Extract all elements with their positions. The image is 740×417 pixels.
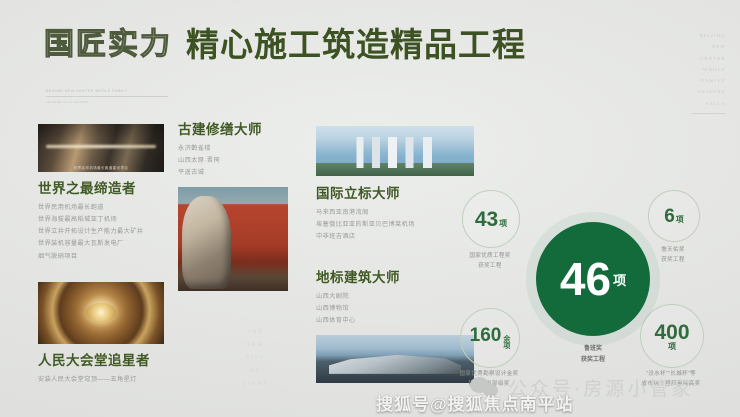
photo-airport-caption: 世界民用机场最长跑道建设项目 <box>38 165 164 170</box>
right-en-5: LEISURE <box>692 86 726 97</box>
list-item: 世界装机容量最大瓦斯发电厂 <box>38 238 166 250</box>
right-en-3: WHOLE <box>692 64 726 75</box>
page-title-outline: 国匠实力 <box>44 30 172 60</box>
right-en-6: VILLA <box>692 98 726 109</box>
list-item: 平遥古城 <box>178 167 304 179</box>
page-header: 国匠实力 精心施工筑造精品工程 <box>44 28 526 61</box>
award-unit: 余 项 <box>503 336 510 351</box>
block-heading-world-record: 世界之最缔造者 <box>38 181 166 197</box>
award-caption-national-quality: 国家优质工程奖 获奖工程 <box>430 252 550 272</box>
block-heritage-restoration: 古建修缮大师 永济鹳雀楼 山西太原·晋祠 平遥古城 <box>178 122 304 291</box>
wm-vert-3: OF <box>243 365 268 378</box>
list-item: 世界立井开拓设计生产能力最大矿井 <box>38 226 166 238</box>
wm-vert-0: THE <box>243 326 268 339</box>
award-unit-bottom: 项 <box>503 343 510 350</box>
award-unit: 项 <box>676 216 684 224</box>
award-number: 400 <box>654 322 689 343</box>
award-caption-luban: 鲁班奖 获奖工程 <box>536 344 650 366</box>
photo-golden-dome <box>38 282 164 344</box>
award-number: 46 <box>560 256 611 302</box>
right-en-2: CENTER <box>692 53 726 64</box>
award-caption-line1: 国家优质工程奖 <box>430 252 550 262</box>
award-unit: 项 <box>668 343 676 351</box>
list-item: 烟气脱硝项目 <box>38 251 166 263</box>
list-item: 世界海拔最高稻城亚丁机场 <box>38 214 166 226</box>
block-great-hall-star: 人民大会堂追星者 安装人民大会堂穹顶——五角星灯 <box>38 282 166 386</box>
list-item: 安装人民大会堂穹顶——五角星灯 <box>38 374 166 386</box>
watermark-sohu: 搜狐号@搜狐焦点南平站 <box>376 390 574 415</box>
photo-seaside-towers <box>316 126 474 176</box>
right-en-4: FAMILY <box>692 75 726 86</box>
watermark-vertical-english: THE NEW CITY OF LIGHT <box>243 326 268 391</box>
photo-stone-lion <box>178 187 288 291</box>
list-item: 世界民用机场最长跑道 <box>38 202 166 214</box>
block-list-great-hall-star: 安装人民大会堂穹顶——五角星灯 <box>38 374 166 386</box>
award-value-6: 6 项 <box>664 207 684 226</box>
award-unit-top: 余 <box>503 336 510 343</box>
award-unit: 项 <box>613 270 626 289</box>
award-caption-line2: 获奖工程 <box>430 262 550 272</box>
award-number: 160 <box>470 326 502 345</box>
header-subtitle-line2: LEISURE VILLA RESORT <box>46 100 176 106</box>
wm-vert-1: NEW <box>243 339 268 352</box>
block-list-heritage-restoration: 永济鹳雀楼 山西太原·晋祠 平遥古城 <box>178 143 304 179</box>
award-caption-line1: 鲁班奖 <box>536 344 650 355</box>
right-en-rule <box>692 113 726 114</box>
header-subtitle-rule <box>46 96 168 97</box>
award-ring-survey-design-gold: 160 余 项 <box>460 308 520 368</box>
slide-root: 国匠实力 精心施工筑造精品工程 BEIJING NEW CENTER WHOLE… <box>0 0 740 417</box>
award-caption-line2: 获奖工程 <box>536 355 650 366</box>
photo-airport-runway: 世界民用机场最长跑道建设项目 <box>38 124 164 172</box>
wm-vert-2: CITY <box>243 352 268 365</box>
block-heading-heritage-restoration: 古建修缮大师 <box>178 122 304 138</box>
award-ring-national-quality: 43 项 <box>462 190 520 248</box>
right-vertical-english: BEIJING NEW CENTER WHOLE FAMILY LEISURE … <box>692 30 726 114</box>
award-value-160: 160 余 项 <box>470 326 511 351</box>
awards-section: 43 项 国家优质工程奖 获奖工程 6 项 詹天佑奖 获奖工程 160 余 项 <box>452 186 740 396</box>
list-item: 山西太原·晋祠 <box>178 155 304 167</box>
award-number: 6 <box>664 207 675 226</box>
award-value-400: 400 项 <box>654 322 689 351</box>
award-value-43: 43 项 <box>475 209 507 230</box>
award-number: 43 <box>475 209 498 230</box>
award-ring-luban-center: 46 项 <box>536 222 650 336</box>
right-en-0: BEIJING <box>692 30 726 41</box>
header-subtitle-en: BEIJING NEW CENTER WHOLE FAMILY LEISURE … <box>46 88 176 106</box>
award-unit: 项 <box>499 220 507 228</box>
block-list-world-record: 世界民用机场最长跑道 世界海拔最高稻城亚丁机场 世界立井开拓设计生产能力最大矿井… <box>38 202 166 262</box>
list-item: 永济鹳雀楼 <box>178 143 304 155</box>
photo-seaside-foreground <box>316 163 474 176</box>
wm-vert-4: LIGHT <box>243 378 268 391</box>
right-en-1: NEW <box>692 41 726 52</box>
block-heading-great-hall-star: 人民大会堂追星者 <box>38 353 166 369</box>
page-title: 精心施工筑造精品工程 <box>186 28 526 61</box>
award-ring-zhantianyou: 6 项 <box>648 190 700 242</box>
block-world-record: 世界民用机场最长跑道建设项目 世界之最缔造者 世界民用机场最长跑道 世界海拔最高… <box>38 124 166 263</box>
header-subtitle-line1: BEIJING NEW CENTER WHOLE FAMILY <box>46 88 176 94</box>
